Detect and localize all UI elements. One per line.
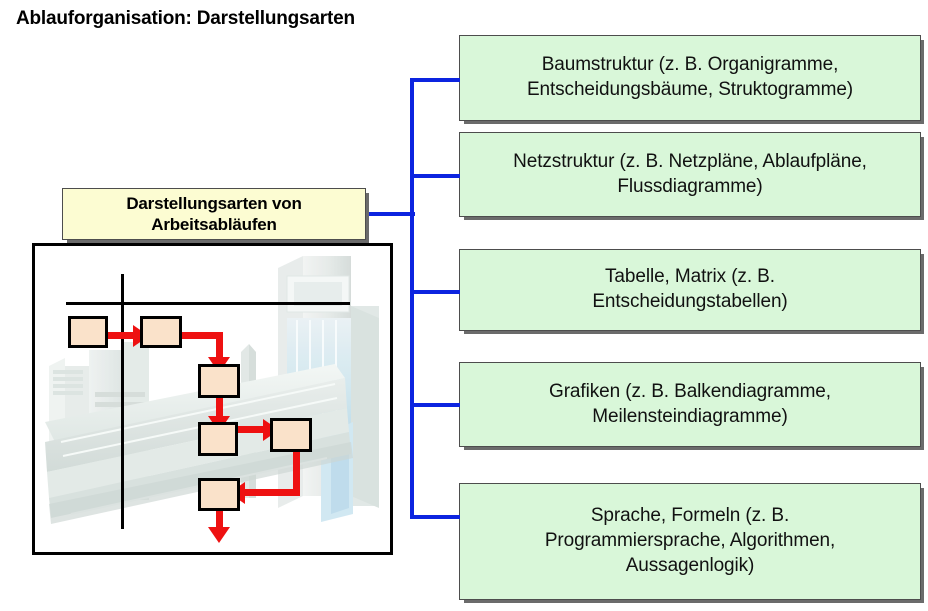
category-line-2: Entscheidungstabellen) bbox=[592, 291, 787, 312]
connector-trunk bbox=[410, 78, 414, 519]
category-line-3: Aussagenlogik) bbox=[626, 555, 755, 576]
category-line-1: Netzstruktur (z. B. Netzpläne, Ablaufplä… bbox=[513, 151, 867, 172]
connector-branch-1 bbox=[410, 78, 460, 82]
category-line-1: Sprache, Formeln (z. B. bbox=[591, 505, 789, 526]
category-label-netzstruktur: Netzstruktur (z. B. Netzpläne, Ablaufplä… bbox=[513, 150, 867, 199]
source-node-line-2: Arbeitsabläufen bbox=[151, 215, 276, 234]
arrow-stem-1 bbox=[108, 332, 136, 339]
flow-node-5 bbox=[270, 418, 312, 452]
axis-vertical-line bbox=[121, 274, 124, 529]
category-box-grafiken[interactable]: Grafiken (z. B. Balkendiagramme, Meilens… bbox=[459, 362, 921, 447]
category-line-1: Baumstruktur (z. B. Organigramme, bbox=[542, 54, 839, 75]
category-line-2: Entscheidungsbäume, Struktogramme) bbox=[527, 79, 853, 100]
category-box-sprache-formeln[interactable]: Sprache, Formeln (z. B. Programmiersprac… bbox=[459, 483, 921, 600]
category-label-tabelle-matrix: Tabelle, Matrix (z. B. Entscheidungstabe… bbox=[592, 265, 787, 314]
category-line-2: Flussdiagramme) bbox=[617, 176, 762, 197]
category-line-1: Tabelle, Matrix (z. B. bbox=[605, 266, 775, 287]
category-label-baumstruktur: Baumstruktur (z. B. Organigramme, Entsch… bbox=[527, 53, 853, 102]
category-label-sprache-formeln: Sprache, Formeln (z. B. Programmiersprac… bbox=[545, 504, 835, 578]
category-line-2: Programmiersprache, Algorithmen, bbox=[545, 530, 835, 551]
flow-node-1 bbox=[68, 316, 108, 348]
axis-horizontal-line bbox=[66, 302, 350, 305]
connector-branch-5 bbox=[410, 515, 460, 519]
illustration-artwork bbox=[35, 246, 390, 552]
source-node-box[interactable]: Darstellungsarten von Arbeitsabläufen bbox=[62, 188, 366, 240]
category-box-baumstruktur[interactable]: Baumstruktur (z. B. Organigramme, Entsch… bbox=[459, 35, 921, 121]
flow-node-2 bbox=[140, 316, 182, 348]
source-node-label: Darstellungsarten von Arbeitsabläufen bbox=[126, 193, 301, 236]
connector-stem-root bbox=[366, 212, 415, 216]
connector-branch-3 bbox=[410, 290, 460, 294]
diagram-canvas: Ablauforganisation: Darstellungsarten bbox=[0, 0, 928, 611]
category-line-2: Meilensteindiagramme) bbox=[592, 406, 787, 427]
category-box-tabelle-matrix[interactable]: Tabelle, Matrix (z. B. Entscheidungstabe… bbox=[459, 249, 921, 331]
page-title: Ablauforganisation: Darstellungsarten bbox=[16, 8, 355, 30]
source-node-line-1: Darstellungsarten von bbox=[126, 194, 301, 213]
flow-node-6 bbox=[198, 478, 240, 511]
flow-node-3 bbox=[198, 364, 240, 398]
arrow-stem-5b bbox=[244, 489, 300, 496]
connector-branch-2 bbox=[410, 174, 460, 178]
arrow-head-down-6 bbox=[208, 527, 230, 543]
connector-branch-4 bbox=[410, 403, 460, 407]
category-box-netzstruktur[interactable]: Netzstruktur (z. B. Netzpläne, Ablaufplä… bbox=[459, 132, 921, 217]
category-line-1: Grafiken (z. B. Balkendiagramme, bbox=[549, 381, 831, 402]
flow-node-4 bbox=[198, 422, 238, 456]
category-label-grafiken: Grafiken (z. B. Balkendiagramme, Meilens… bbox=[549, 380, 831, 429]
illustration-frame bbox=[32, 243, 393, 555]
